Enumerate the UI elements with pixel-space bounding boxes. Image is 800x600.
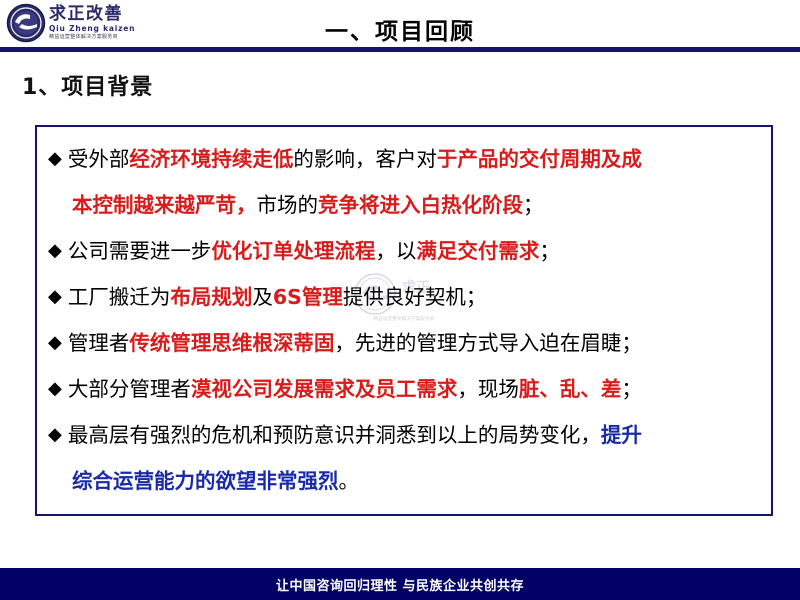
footer-text: 让中国咨询回归理性 与民族企业共创共存 bbox=[0, 568, 800, 600]
bullet-diamond-icon: ◆ bbox=[48, 228, 62, 274]
text-segment-red: 于产品的交付周期及成 bbox=[437, 147, 642, 171]
slide: 求正改善 Qiu Zheng kaizen 精益运营整体解决方案服务商 一、项目… bbox=[0, 0, 800, 600]
text-segment-red: 脏、乱、差 bbox=[519, 377, 622, 401]
bullet-text: 大部分管理者漠视公司发展需求及员工需求，现场脏、乱、差； bbox=[68, 366, 768, 412]
text-segment-black: ； bbox=[621, 377, 642, 401]
text-segment-red: 竞争将进入白热化阶段 bbox=[318, 193, 523, 217]
text-segment-black: 及 bbox=[252, 285, 273, 309]
text-segment-black: 市场的 bbox=[257, 193, 319, 217]
text-segment-black: 提供良好契机； bbox=[343, 285, 487, 309]
bullet-text: 管理者传统管理思维根深蒂固，先进的管理方式导入迫在眉睫； bbox=[68, 320, 768, 366]
section-heading: 1、项目背景 bbox=[22, 69, 153, 101]
text-segment-red: 6S管理 bbox=[273, 285, 343, 309]
bullet-diamond-icon: ◆ bbox=[48, 136, 62, 182]
text-segment-red: 优化订单处理流程 bbox=[211, 239, 375, 263]
bullet-item: ◆最高层有强烈的危机和预防意识并洞悉到以上的局势变化，提升 bbox=[48, 412, 768, 458]
bullet-text: 工厂搬迁为布局规划及6S管理提供良好契机； bbox=[68, 274, 768, 320]
text-segment-black: ，先进的管理方式导入迫在眉睫； bbox=[334, 331, 642, 355]
bullet-item: ◆受外部经济环境持续走低的影响，客户对于产品的交付周期及成 bbox=[48, 136, 768, 182]
bullet-item-continuation: 本控制越来越严苛，市场的竞争将进入白热化阶段； bbox=[48, 182, 768, 228]
slide-title: 一、项目回顾 bbox=[0, 12, 800, 46]
text-segment-red: 经济环境持续走低 bbox=[129, 147, 293, 171]
slide-header: 求正改善 Qiu Zheng kaizen 精益运营整体解决方案服务商 一、项目… bbox=[0, 0, 800, 49]
bullet-item-continuation: 综合运营能力的欲望非常强烈。 bbox=[48, 458, 768, 504]
bullet-item: ◆管理者传统管理思维根深蒂固，先进的管理方式导入迫在眉睫； bbox=[48, 320, 768, 366]
text-segment-red: 漠视公司发展需求及员工需求 bbox=[191, 377, 458, 401]
text-segment-blue: 综合运营能力的欲望非常强烈 bbox=[72, 469, 339, 493]
text-segment-black: ，以 bbox=[375, 239, 416, 263]
bullet-list: ◆受外部经济环境持续走低的影响，客户对于产品的交付周期及成本控制越来越严苛，市场… bbox=[48, 136, 768, 504]
text-segment-black: 工厂搬迁为 bbox=[68, 285, 171, 309]
bullet-text: 本控制越来越严苛，市场的竞争将进入白热化阶段； bbox=[72, 182, 768, 228]
text-segment-black: ； bbox=[523, 193, 544, 217]
text-segment-red: 满足交付需求 bbox=[416, 239, 539, 263]
bullet-item: ◆大部分管理者漠视公司发展需求及员工需求，现场脏、乱、差； bbox=[48, 366, 768, 412]
bullet-text: 受外部经济环境持续走低的影响，客户对于产品的交付周期及成 bbox=[68, 136, 768, 182]
bullet-diamond-icon: ◆ bbox=[48, 274, 62, 320]
header-divider bbox=[0, 47, 800, 52]
text-segment-black: 公司需要进一步 bbox=[68, 239, 212, 263]
bullet-diamond-icon: ◆ bbox=[48, 366, 62, 412]
text-segment-black: 的影响，客户对 bbox=[293, 147, 437, 171]
bullet-item: ◆公司需要进一步优化订单处理流程，以满足交付需求； bbox=[48, 228, 768, 274]
bullet-diamond-icon: ◆ bbox=[48, 320, 62, 366]
text-segment-black: 管理者 bbox=[68, 331, 130, 355]
bullet-item: ◆工厂搬迁为布局规划及6S管理提供良好契机； bbox=[48, 274, 768, 320]
text-segment-black: 。 bbox=[339, 469, 360, 493]
bullet-diamond-icon: ◆ bbox=[48, 412, 62, 458]
text-segment-black: 受外部 bbox=[68, 147, 130, 171]
bullet-text: 最高层有强烈的危机和预防意识并洞悉到以上的局势变化，提升 bbox=[68, 412, 768, 458]
text-segment-black: 最高层有强烈的危机和预防意识并洞悉到以上的局势变化， bbox=[68, 423, 601, 447]
text-segment-black: ，现场 bbox=[457, 377, 519, 401]
text-segment-black: 大部分管理者 bbox=[68, 377, 191, 401]
text-segment-red: 布局规划 bbox=[170, 285, 252, 309]
text-segment-black: ； bbox=[539, 239, 560, 263]
text-segment-red: 传统管理思维根深蒂固 bbox=[129, 331, 334, 355]
text-segment-blue: 提升 bbox=[601, 423, 642, 447]
text-segment-red: 本控制越来越严苛， bbox=[72, 193, 257, 217]
bullet-text: 公司需要进一步优化订单处理流程，以满足交付需求； bbox=[68, 228, 768, 274]
bullet-text: 综合运营能力的欲望非常强烈。 bbox=[72, 458, 768, 504]
footer-bar: 让中国咨询回归理性 与民族企业共创共存 bbox=[0, 568, 800, 600]
